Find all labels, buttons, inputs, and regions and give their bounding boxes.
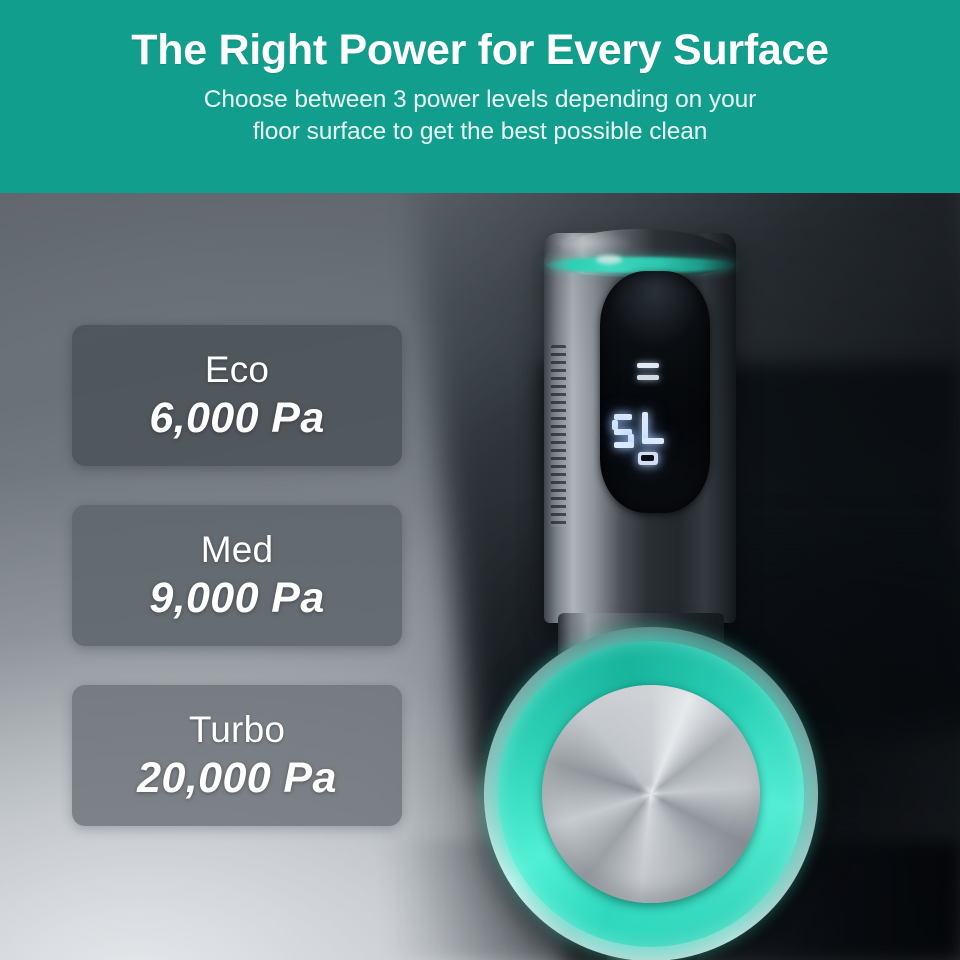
power-level-label: Med bbox=[201, 531, 274, 568]
page-title: The Right Power for Every Surface bbox=[131, 28, 828, 73]
header-banner: The Right Power for Every Surface Choose… bbox=[0, 0, 960, 193]
power-level-card-eco[interactable]: Eco 6,000 Pa bbox=[72, 325, 402, 466]
subtitle-line-1: Choose between 3 power levels depending … bbox=[204, 84, 756, 116]
power-level-value: 20,000 Pa bbox=[137, 757, 337, 800]
power-level-value: 6,000 Pa bbox=[149, 397, 324, 440]
power-level-label: Turbo bbox=[189, 711, 285, 748]
power-level-value: 9,000 Pa bbox=[149, 577, 324, 620]
power-level-card-med[interactable]: Med 9,000 Pa bbox=[72, 505, 402, 646]
page-subtitle: Choose between 3 power levels depending … bbox=[204, 84, 756, 148]
promo-image: Eco 6,000 Pa Med 9,000 Pa Turbo 20,000 P… bbox=[0, 0, 960, 960]
power-level-card-list: Eco 6,000 Pa Med 9,000 Pa Turbo 20,000 P… bbox=[72, 325, 402, 826]
subtitle-line-2: floor surface to get the best possible c… bbox=[204, 116, 756, 148]
power-level-card-turbo[interactable]: Turbo 20,000 Pa bbox=[72, 685, 402, 826]
power-level-label: Eco bbox=[205, 351, 269, 388]
